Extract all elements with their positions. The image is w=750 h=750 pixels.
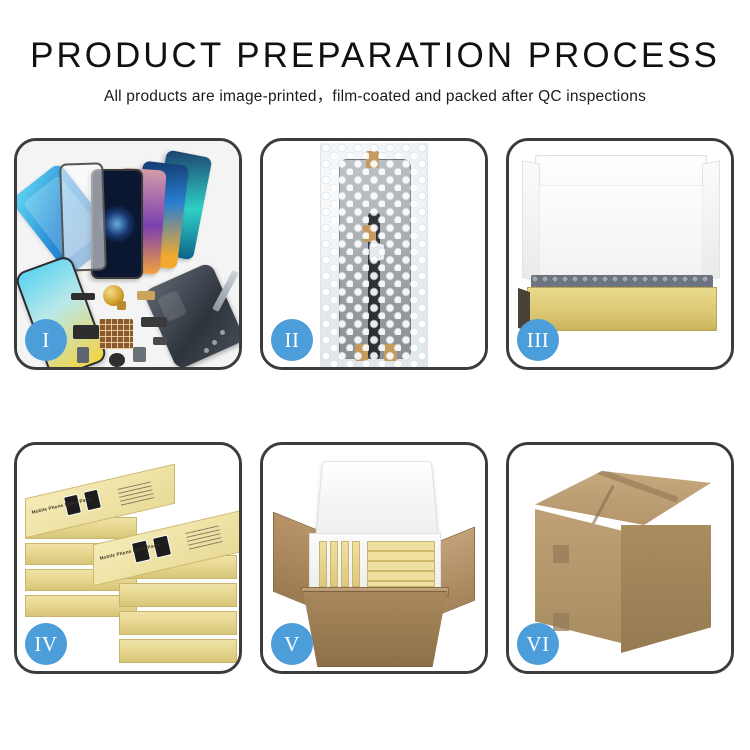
process-step-5: V xyxy=(260,442,488,674)
bubble-wrap-bag xyxy=(320,143,428,367)
infographic-page: PRODUCT PREPARATION PROCESS All products… xyxy=(0,0,750,750)
inner-box-1 xyxy=(319,541,327,587)
foam-sheet xyxy=(539,185,703,277)
process-step-3: III xyxy=(506,138,734,370)
box-right-4 xyxy=(119,639,237,663)
part-bracket xyxy=(153,337,167,345)
step-badge-6: VI xyxy=(517,623,559,665)
carton-tape-1 xyxy=(553,545,569,563)
header: PRODUCT PREPARATION PROCESS All products… xyxy=(0,0,750,106)
page-subtitle: All products are image-printed，film-coat… xyxy=(0,84,750,106)
step-badge-3: III xyxy=(517,319,559,361)
glass-panel xyxy=(59,162,107,271)
box-right-2 xyxy=(119,583,237,607)
part-camera xyxy=(77,347,89,363)
screw-3 xyxy=(204,348,209,353)
screw-2 xyxy=(220,330,225,335)
inner-box-2 xyxy=(330,541,338,587)
step-badge-4: IV xyxy=(25,623,67,665)
inner-box-4 xyxy=(352,541,360,587)
part-speaker xyxy=(109,353,125,367)
part-gold-chip xyxy=(117,301,126,310)
process-grid: I II xyxy=(14,138,736,674)
part-flex-cable xyxy=(141,317,167,327)
yellow-box-tray xyxy=(527,287,717,331)
step-badge-5: V xyxy=(271,623,313,665)
process-step-1: I xyxy=(14,138,242,370)
chip-grid-part xyxy=(99,319,133,349)
bubble-texture xyxy=(321,143,427,367)
screw-1 xyxy=(212,340,217,345)
process-step-4: Mobile Phone Spare Parts Mobile Phone Sp… xyxy=(14,442,242,674)
carton-body xyxy=(303,591,447,667)
page-title: PRODUCT PREPARATION PROCESS xyxy=(0,38,750,75)
part-connector-a xyxy=(71,293,95,300)
process-step-2: II xyxy=(260,138,488,370)
part-gold-flex xyxy=(137,291,155,300)
process-step-6: VI xyxy=(506,442,734,674)
inner-box-group xyxy=(367,541,435,587)
carton-tape-2 xyxy=(553,613,569,631)
carton-left-face xyxy=(535,509,621,643)
part-module-c xyxy=(73,325,99,339)
part-button xyxy=(133,347,146,362)
inner-box-3 xyxy=(341,541,349,587)
step-badge-1: I xyxy=(25,319,67,361)
carton-right-face xyxy=(621,525,711,653)
foam-lid-open xyxy=(315,461,438,535)
step-badge-2: II xyxy=(271,319,313,361)
box-right-3 xyxy=(119,611,237,635)
